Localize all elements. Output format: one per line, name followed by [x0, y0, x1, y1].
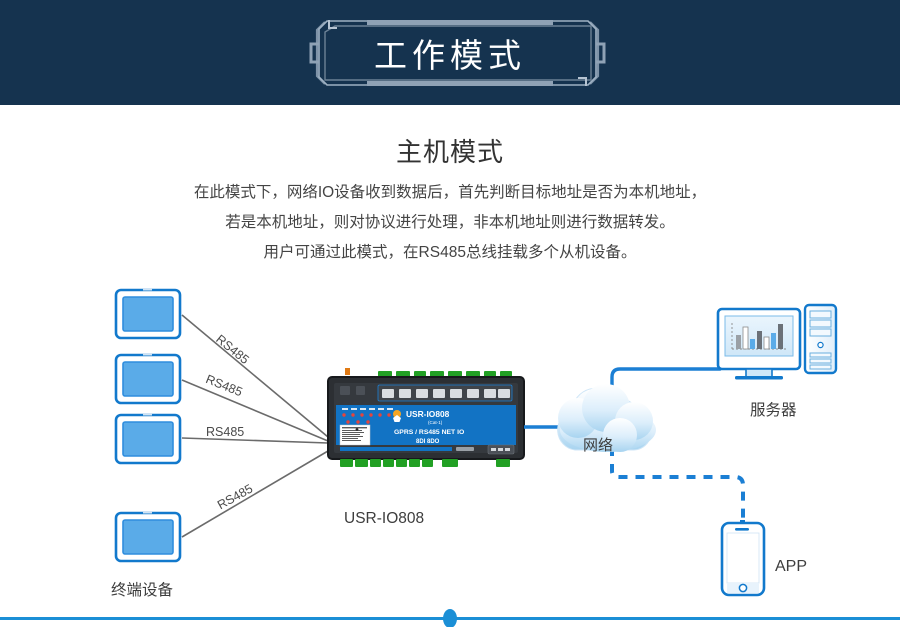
terminal-device-2 [116, 353, 180, 403]
terminal-device-4 [116, 511, 180, 561]
device-subbrand-text: (Cat-1) [428, 420, 443, 425]
terminal-device-3 [116, 413, 180, 463]
device-brand-logo [393, 410, 401, 422]
app-label: APP [775, 558, 807, 576]
monitor-stand [735, 376, 783, 380]
device-sticker-figure [356, 428, 359, 431]
header-banner: 工作模式 [0, 0, 900, 105]
section-paragraph: 在此模式下，网络IO设备收到数据后，首先判断目标地址是否为本机地址， 若是本机地… [0, 178, 900, 268]
tower-power-button [818, 342, 823, 347]
footer-divider-dot [443, 609, 457, 627]
server-icon [718, 305, 836, 380]
server-label: 服务器 [750, 398, 797, 420]
section-title: 主机模式 [0, 132, 900, 169]
monitor-neck [746, 369, 772, 377]
device-power-led [345, 368, 350, 375]
terminal-devices-label: 终端设备 [111, 578, 173, 600]
terminal-device-1 [116, 288, 180, 338]
app-phone-icon [722, 520, 764, 595]
paragraph-line-1: 在此模式下，网络IO设备收到数据后，首先判断目标地址是否为本机地址， [0, 178, 900, 208]
rs485-bus-lines [182, 315, 328, 537]
terminal-device-group [116, 288, 180, 561]
rs485-label-3: RS485 [206, 425, 244, 439]
device-bottom-terminals [340, 459, 510, 467]
device-line3-text: 8DI 8DO [416, 439, 440, 445]
diagram-canvas: USR-IO808 (Cat-1) GPRS / RS485 NET IO 8D… [0, 275, 900, 615]
paragraph-line-2: 若是本机地址，则对协议进行处理，非本机地址则进行数据转发。 [0, 208, 900, 238]
tower-drive-bays [810, 311, 831, 336]
usr-io808-device: USR-IO808 (Cat-1) GPRS / RS485 NET IO 8D… [328, 368, 524, 467]
banner-title: 工作模式 [0, 0, 900, 105]
device-name-label: USR-IO808 [344, 510, 424, 528]
device-brand-text: USR-IO808 [406, 409, 450, 419]
phone-screen [727, 533, 759, 583]
link-cloud-to-app [612, 447, 743, 523]
page-root: 工作模式 主机模式 在此模式下，网络IO设备收到数据后，首先判断目标地址是否为本… [0, 0, 900, 627]
device-line2-text: GPRS / RS485 NET IO [394, 429, 464, 436]
paragraph-line-3: 用户可通过此模式，在RS485总线挂载多个从机设备。 [0, 238, 900, 268]
phone-home-button [739, 584, 746, 591]
architecture-diagram: USR-IO808 (Cat-1) GPRS / RS485 NET IO 8D… [0, 275, 900, 605]
cloud-label: 网络 [583, 434, 613, 455]
phone-speaker [735, 528, 749, 531]
